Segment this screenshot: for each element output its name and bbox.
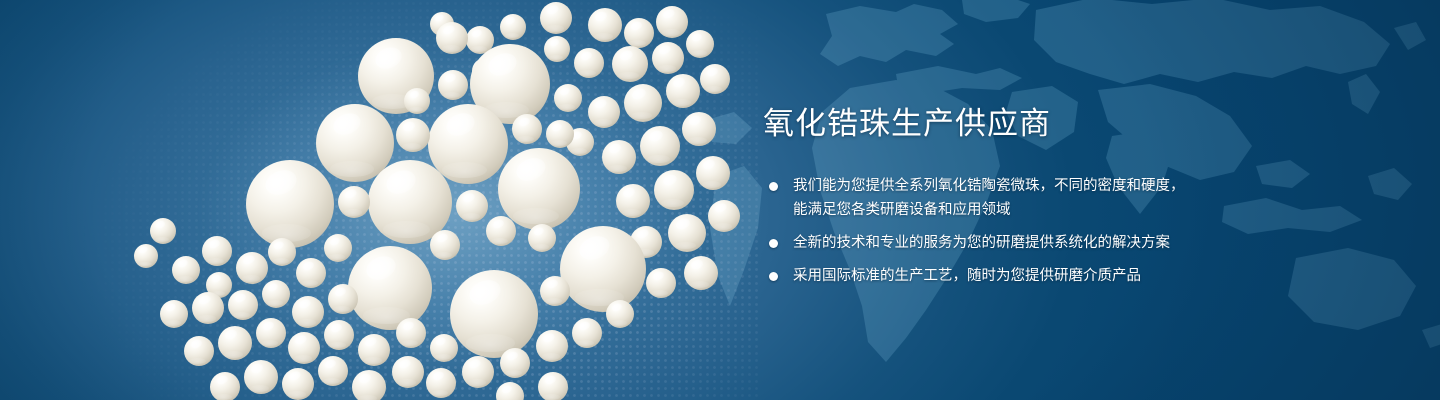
edge-vignette <box>0 0 1440 400</box>
hero-banner: 氧化锆珠生产供应商 我们能为您提供全系列氧化锆陶瓷微珠，不同的密度和硬度， 能满… <box>0 0 1440 400</box>
